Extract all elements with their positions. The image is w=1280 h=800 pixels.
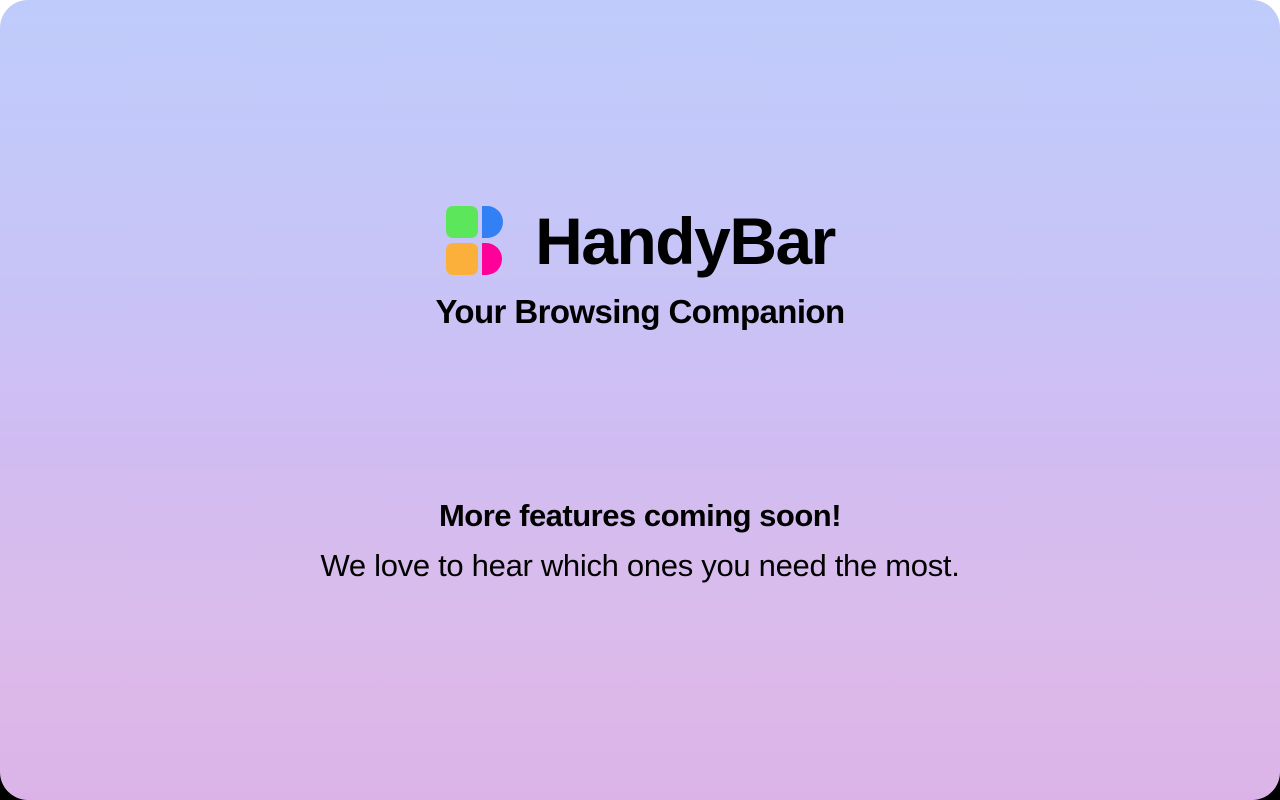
coming-soon-block: More features coming soon! We love to he…: [0, 498, 1280, 583]
logo-tile-green: [446, 206, 478, 238]
brand-row: HandyBar: [445, 205, 835, 277]
logo-tile-magenta: [482, 243, 502, 275]
app-surface: HandyBar Your Browsing Companion More fe…: [0, 0, 1280, 800]
handybar-logo-icon: [445, 205, 517, 277]
coming-soon-heading: More features coming soon!: [439, 498, 841, 534]
coming-soon-subtext: We love to hear which ones you need the …: [320, 548, 959, 584]
logo-tile-orange: [446, 243, 478, 275]
brand-block: HandyBar Your Browsing Companion: [0, 205, 1280, 328]
logo-tile-blue-body: [482, 206, 502, 238]
app-tagline: Your Browsing Companion: [435, 295, 844, 328]
app-wordmark: HandyBar: [535, 208, 835, 274]
